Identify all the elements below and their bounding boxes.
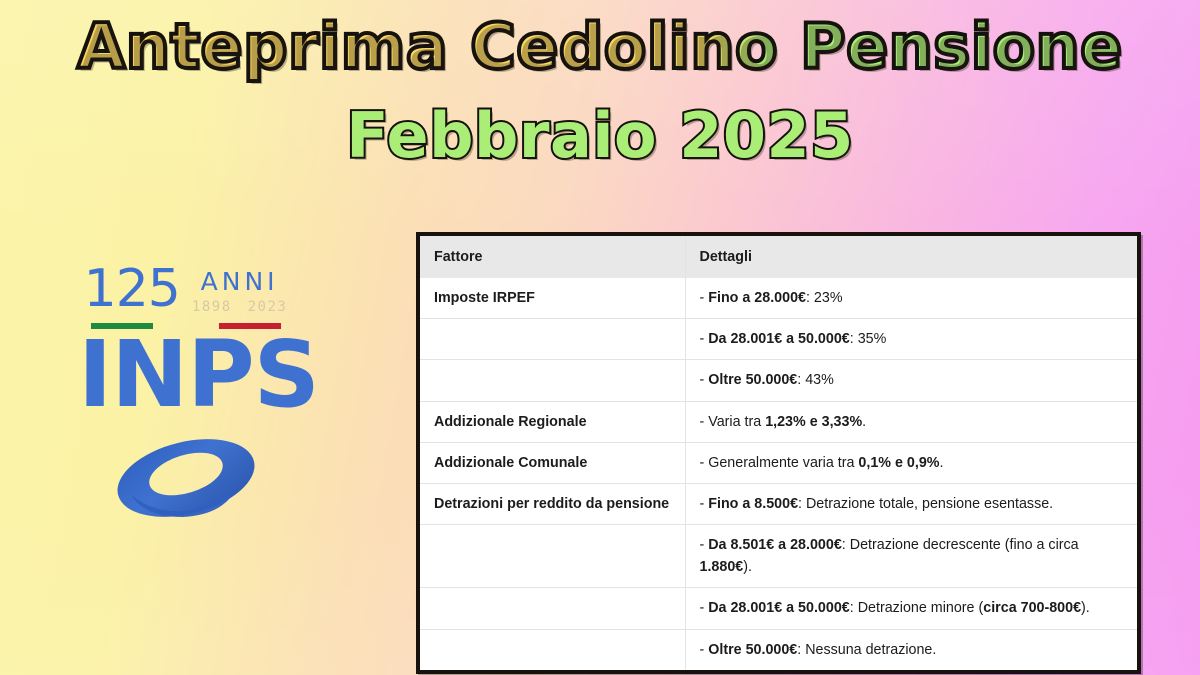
detail-rest: : 43% — [797, 372, 834, 388]
cell-detail: - Varia tra 1,23% e 3,33%. — [685, 401, 1137, 442]
cell-detail: - Da 28.001€ a 50.000€: 35% — [685, 319, 1137, 360]
table-row: - Da 8.501€ a 28.000€: Detrazione decres… — [420, 525, 1137, 588]
column-header-fattore: Fattore — [420, 236, 685, 278]
logo-anniversary: 125 ANNI 1898 2023 — [78, 258, 293, 314]
logo-number-125: 125 — [84, 266, 180, 314]
detail-prefix: - — [700, 600, 709, 616]
table-row: - Oltre 50.000€: 43% — [420, 360, 1137, 401]
detail-rest: : 35% — [850, 331, 887, 347]
cell-factor: Detrazioni per reddito da pensione — [420, 483, 685, 524]
detail-prefix: - — [700, 290, 709, 306]
table-row: - Da 28.001€ a 50.000€: 35% — [420, 319, 1137, 360]
detail-bold-2: circa 700-800€ — [983, 600, 1081, 616]
detail-prefix: - — [700, 642, 709, 658]
logo-year-from: 1898 — [192, 300, 232, 314]
title-line-1: Anteprima Cedolino Pensione — [0, 14, 1200, 81]
page-title: Anteprima Cedolino Pensione Febbraio 202… — [0, 14, 1200, 170]
detail-bold: Fino a 8.500€ — [708, 496, 798, 512]
cell-detail: - Generalmente varia tra 0,1% e 0,9%. — [685, 442, 1137, 483]
table-body: Imposte IRPEF - Fino a 28.000€: 23% - Da… — [420, 278, 1137, 670]
detail-rest-2: ). — [743, 559, 752, 575]
detail-prefix: - — [700, 537, 709, 553]
table-row: Imposte IRPEF - Fino a 28.000€: 23% — [420, 278, 1137, 319]
detail-bold: Da 28.001€ a 50.000€ — [708, 331, 850, 347]
detail-bold: Oltre 50.000€ — [708, 372, 797, 388]
cell-detail: - Oltre 50.000€: 43% — [685, 360, 1137, 401]
detail-prefix: - Varia tra — [700, 414, 766, 430]
detail-rest: : Detrazione totale, pensione esentasse. — [798, 496, 1053, 512]
detail-prefix: - Generalmente varia tra — [700, 455, 859, 471]
logo-years: 1898 2023 — [192, 300, 287, 314]
tax-details-table-frame: Fattore Dettagli Imposte IRPEF - Fino a … — [416, 232, 1141, 674]
detail-bold: Da 8.501€ a 28.000€ — [708, 537, 842, 553]
cell-factor — [420, 629, 685, 670]
logo-year-to: 2023 — [248, 300, 288, 314]
detail-rest: . — [940, 455, 944, 471]
cell-detail: - Da 28.001€ a 50.000€: Detrazione minor… — [685, 588, 1137, 629]
cell-detail: - Fino a 28.000€: 23% — [685, 278, 1137, 319]
cell-detail: - Fino a 8.500€: Detrazione totale, pens… — [685, 483, 1137, 524]
detail-rest: . — [862, 414, 866, 430]
poster-canvas: Anteprima Cedolino Pensione Febbraio 202… — [0, 0, 1200, 675]
table-row: Detrazioni per reddito da pensione - Fin… — [420, 483, 1137, 524]
cell-factor: Addizionale Comunale — [420, 442, 685, 483]
detail-rest: : 23% — [806, 290, 843, 306]
inps-logo: 125 ANNI 1898 2023 INPS — [78, 258, 293, 578]
table-row: - Oltre 50.000€: Nessuna detrazione. — [420, 629, 1137, 670]
detail-bold: 1,23% e 3,33% — [765, 414, 862, 430]
title-line-2: Febbraio 2025 — [0, 103, 1200, 170]
detail-bold: Oltre 50.000€ — [708, 642, 797, 658]
cell-factor — [420, 588, 685, 629]
logo-anni-label: ANNI — [201, 269, 279, 294]
table-row: Addizionale Comunale - Generalmente vari… — [420, 442, 1137, 483]
cell-factor — [420, 525, 685, 588]
table-row: - Da 28.001€ a 50.000€: Detrazione minor… — [420, 588, 1137, 629]
detail-rest: : Detrazione minore ( — [850, 600, 984, 616]
logo-anni-group: ANNI 1898 2023 — [192, 269, 287, 314]
detail-bold: Fino a 28.000€ — [708, 290, 806, 306]
column-header-dettagli: Dettagli — [685, 236, 1137, 278]
detail-bold: 0,1% e 0,9% — [858, 455, 939, 471]
detail-prefix: - — [700, 496, 709, 512]
inps-ring-icon — [111, 433, 261, 521]
cell-detail: - Oltre 50.000€: Nessuna detrazione. — [685, 629, 1137, 670]
cell-detail: - Da 8.501€ a 28.000€: Detrazione decres… — [685, 525, 1137, 588]
detail-rest: : Detrazione decrescente (fino a circa — [842, 537, 1079, 553]
detail-prefix: - — [700, 331, 709, 347]
detail-prefix: - — [700, 372, 709, 388]
table-row: Addizionale Regionale - Varia tra 1,23% … — [420, 401, 1137, 442]
table-header-row: Fattore Dettagli — [420, 236, 1137, 278]
cell-factor: Addizionale Regionale — [420, 401, 685, 442]
cell-factor: Imposte IRPEF — [420, 278, 685, 319]
detail-bold-2: 1.880€ — [700, 559, 744, 575]
detail-bold: Da 28.001€ a 50.000€ — [708, 600, 850, 616]
detail-rest: : Nessuna detrazione. — [797, 642, 936, 658]
tax-details-table: Fattore Dettagli Imposte IRPEF - Fino a … — [420, 236, 1137, 670]
cell-factor — [420, 360, 685, 401]
cell-factor — [420, 319, 685, 360]
detail-rest-2: ). — [1081, 600, 1090, 616]
logo-acronym-inps: INPS — [78, 331, 293, 419]
